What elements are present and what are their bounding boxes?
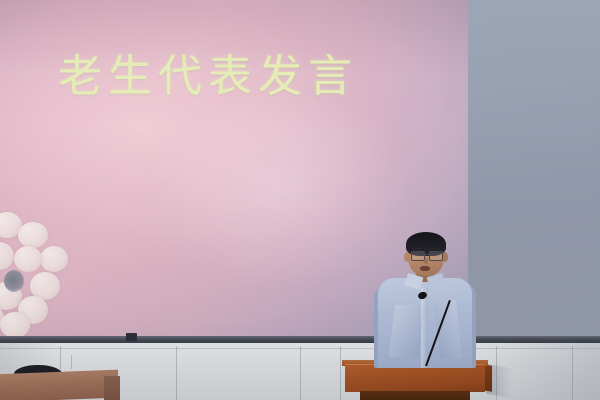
shirt-placket	[421, 288, 428, 368]
wall-panel-seam	[176, 346, 177, 400]
speaker-eyebrow-right	[430, 248, 440, 250]
wall-panel-seam	[340, 346, 341, 400]
eyeglasses-lens-right	[429, 251, 443, 261]
wall-panel-seam	[300, 346, 301, 400]
right-wall	[455, 0, 600, 355]
shirt-fold	[389, 305, 425, 357]
table	[0, 370, 118, 400]
speaker-mouth	[420, 266, 430, 271]
eyeglasses-bridge	[423, 254, 429, 255]
slide-title: 老生代表发言	[58, 52, 358, 103]
podium	[345, 364, 485, 392]
speaker-nose	[424, 258, 428, 264]
speaker-eyebrow-left	[412, 248, 422, 250]
rail-bracket	[126, 333, 137, 341]
slide-flower-decoration	[0, 208, 88, 340]
table-edge	[104, 376, 120, 400]
presentation-photo: 老生代表发言	[0, 0, 600, 400]
flower-center	[4, 270, 24, 292]
eyeglasses-lens-left	[411, 251, 425, 261]
screen-bottom-rail	[0, 336, 600, 343]
podium-base	[360, 391, 470, 400]
wall-mark	[71, 355, 72, 369]
